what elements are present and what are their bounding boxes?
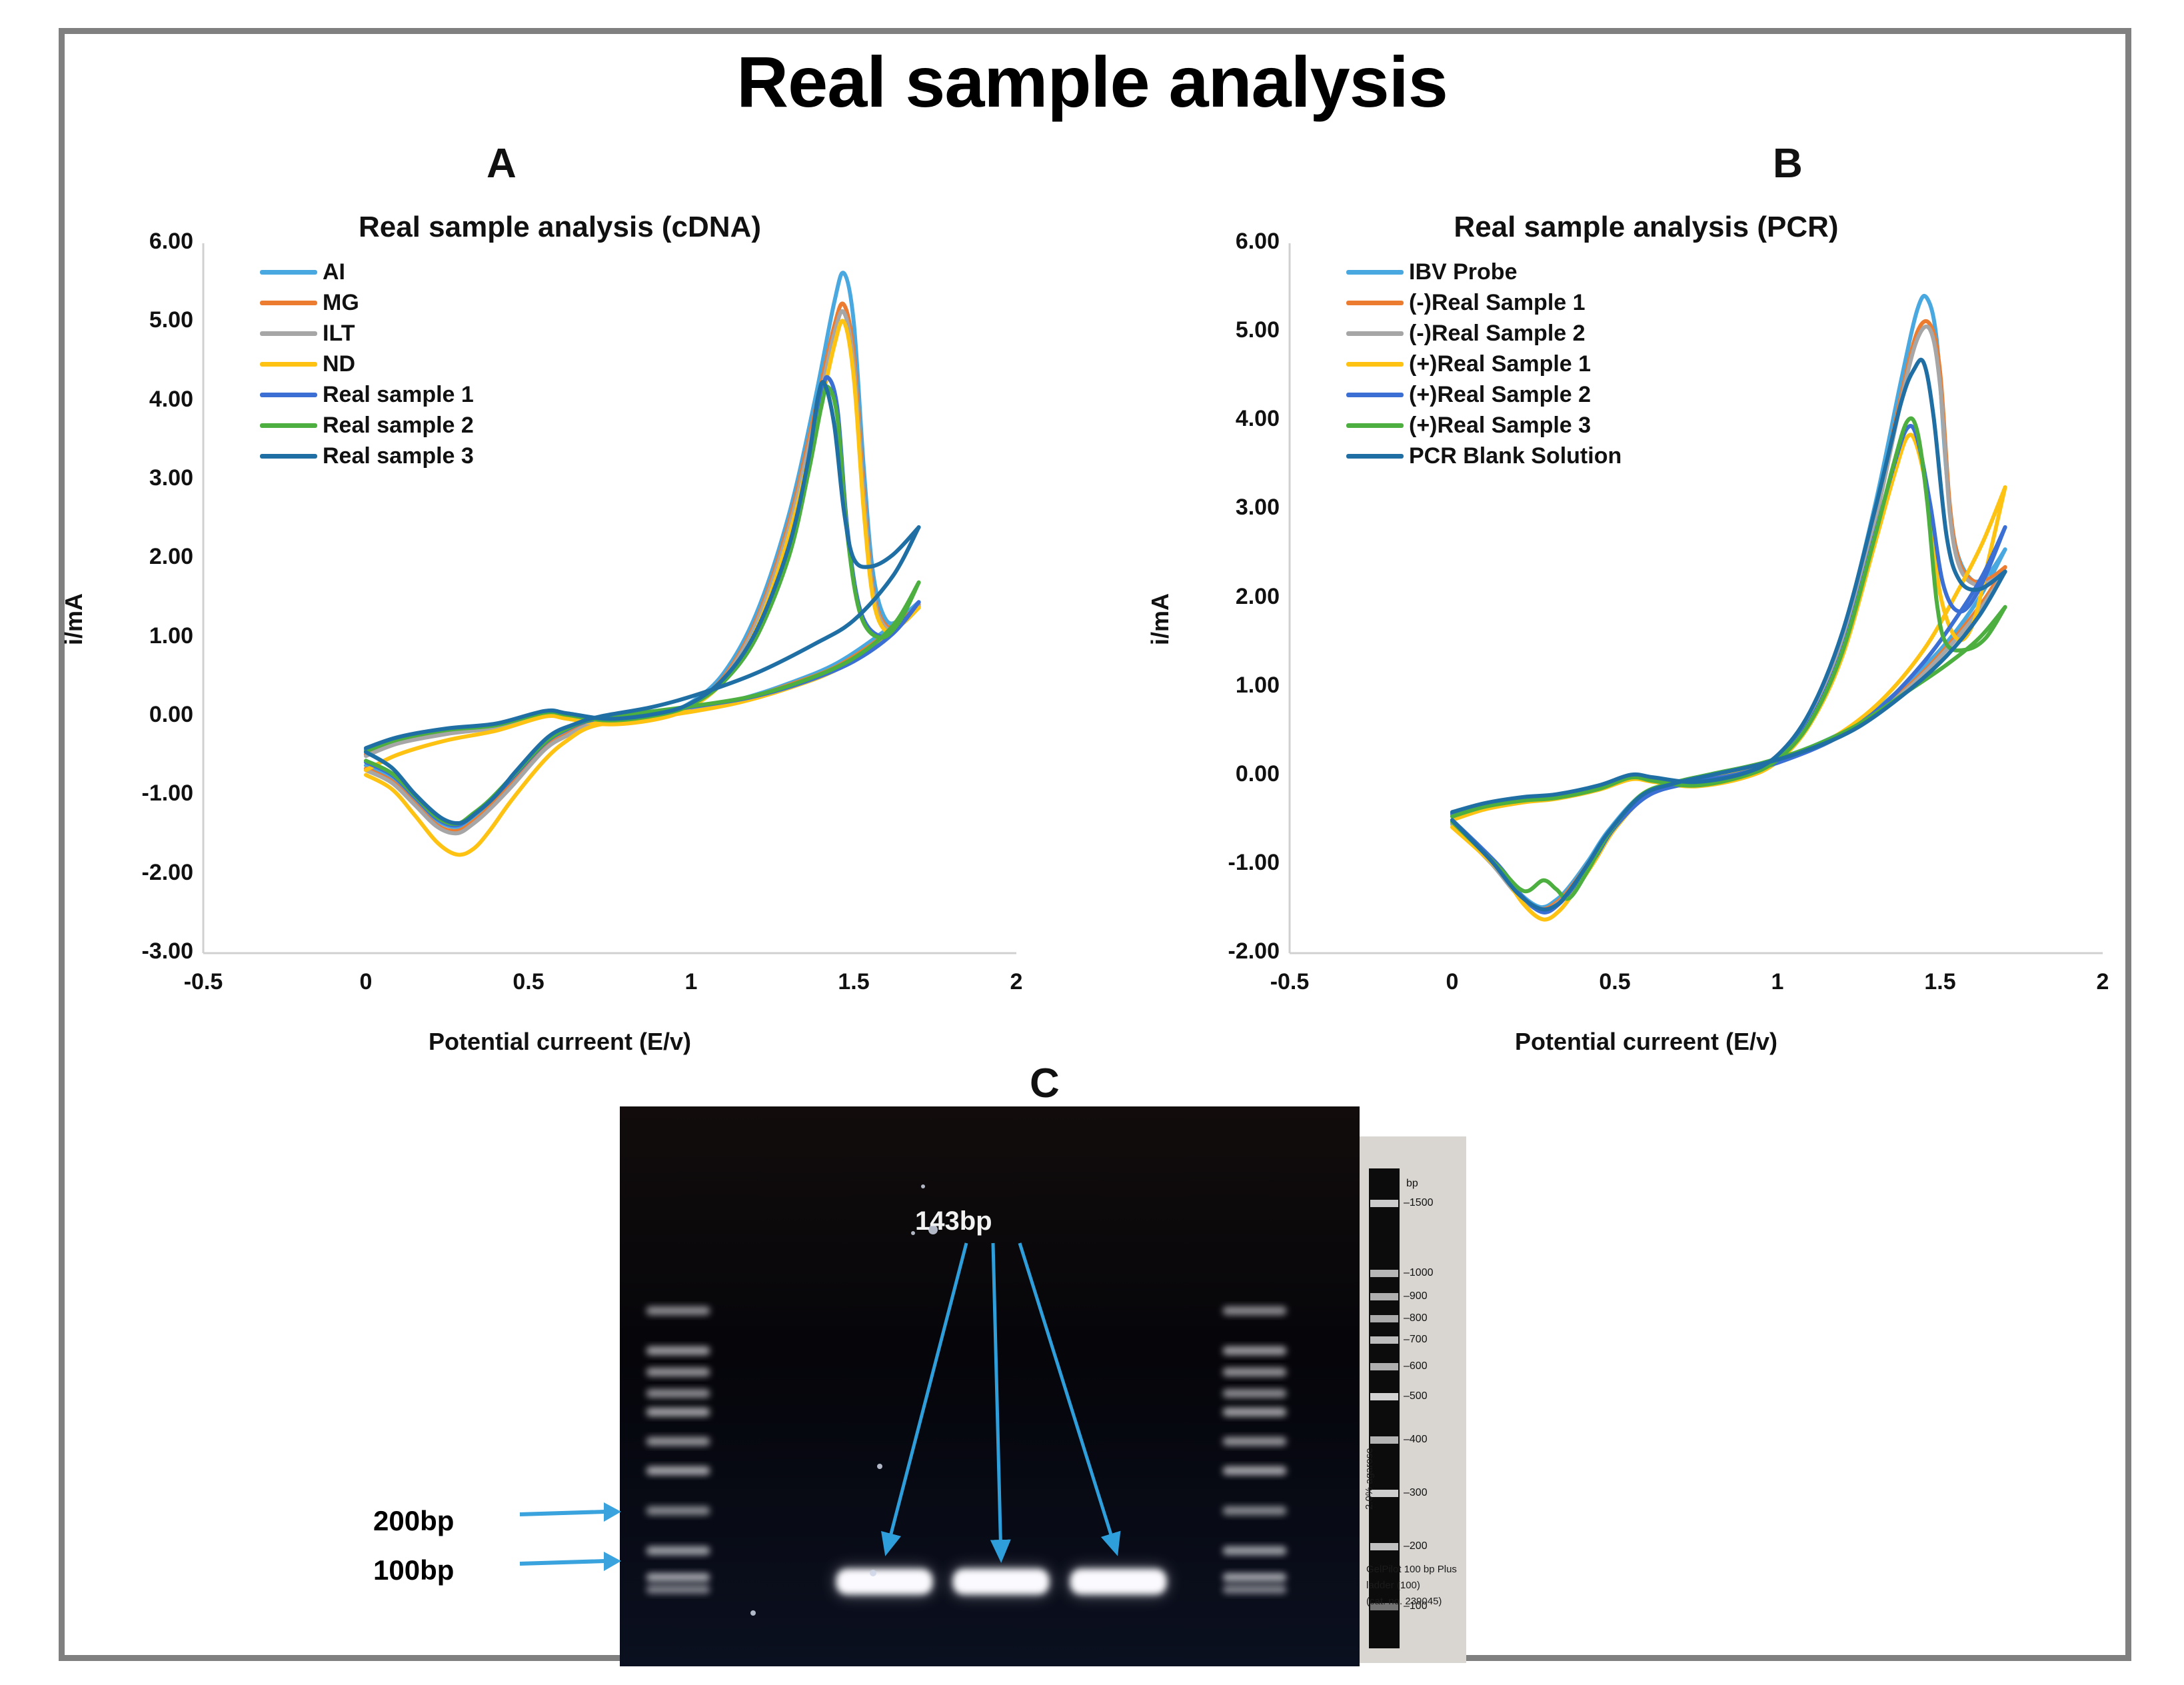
legend-item[interactable]: (-)Real Sample 2 bbox=[1346, 318, 1622, 349]
page-title: Real sample analysis bbox=[0, 40, 2184, 123]
series-line bbox=[1452, 487, 2005, 920]
legend-color-swatch bbox=[1346, 270, 1404, 275]
series-line bbox=[366, 583, 919, 824]
legend-label: (+)Real Sample 3 bbox=[1409, 413, 1591, 439]
gel-143bp-label: 143bp bbox=[915, 1206, 992, 1236]
legend-label: ILT bbox=[323, 321, 355, 347]
legend-item[interactable]: AI bbox=[260, 257, 474, 287]
gel-electrophoresis-panel: bp–1500–1000–900–800–700–600–500–400–300… bbox=[620, 1106, 1466, 1666]
panel-letter-a: A bbox=[487, 140, 517, 187]
series-line bbox=[1452, 572, 2005, 910]
legend-label: AI bbox=[323, 259, 345, 285]
series-line bbox=[1452, 572, 2005, 911]
legend-item[interactable]: Real sample 2 bbox=[260, 410, 474, 441]
bp-label-200: 200bp bbox=[373, 1505, 454, 1537]
legend-label: MG bbox=[323, 290, 359, 316]
legend-color-swatch bbox=[1346, 454, 1404, 459]
legend-label: Real sample 3 bbox=[323, 443, 474, 469]
legend-label: Real sample 1 bbox=[323, 382, 474, 408]
panel-letter-b: B bbox=[1773, 140, 1803, 187]
legend-label: Real sample 2 bbox=[323, 413, 474, 439]
legend-item[interactable]: (-)Real Sample 1 bbox=[1346, 287, 1622, 318]
legend-color-swatch bbox=[260, 301, 317, 305]
chart-a-plot bbox=[40, 193, 1080, 1060]
legend-color-swatch bbox=[260, 270, 317, 275]
legend-color-swatch bbox=[260, 362, 317, 367]
chart-panel-a: Real sample analysis (cDNA) i/mA Potenti… bbox=[40, 193, 1080, 1060]
legend-color-swatch bbox=[260, 393, 317, 397]
gel-annotations bbox=[620, 1106, 1466, 1666]
bp-label-100: 100bp bbox=[373, 1554, 454, 1586]
legend-item[interactable]: (+)Real Sample 1 bbox=[1346, 349, 1622, 379]
gel-annotation-arrow bbox=[886, 1243, 966, 1552]
legend-color-swatch bbox=[1346, 301, 1404, 305]
legend-item[interactable]: (+)Real Sample 3 bbox=[1346, 410, 1622, 441]
legend-color-swatch bbox=[260, 454, 317, 459]
series-line bbox=[1452, 426, 2005, 814]
series-line bbox=[366, 527, 919, 823]
chart-a-legend: AIMGILTNDReal sample 1Real sample 2Real … bbox=[260, 257, 474, 471]
legend-item[interactable]: ND bbox=[260, 349, 474, 379]
chart-b-plot bbox=[1126, 193, 2166, 1060]
legend-label: ND bbox=[323, 351, 355, 377]
series-line bbox=[1452, 435, 2005, 820]
legend-item[interactable]: MG bbox=[260, 287, 474, 318]
legend-item[interactable]: Real sample 3 bbox=[260, 441, 474, 471]
legend-label: PCR Blank Solution bbox=[1409, 443, 1622, 469]
figure-canvas: Real sample analysis A B C Real sample a… bbox=[0, 0, 2184, 1685]
chart-panel-b: Real sample analysis (PCR) i/mA Potentia… bbox=[1126, 193, 2166, 1060]
legend-item[interactable]: ILT bbox=[260, 318, 474, 349]
legend-item[interactable]: IBV Probe bbox=[1346, 257, 1622, 287]
legend-color-swatch bbox=[260, 331, 317, 336]
legend-color-swatch bbox=[1346, 393, 1404, 397]
legend-label: (+)Real Sample 2 bbox=[1409, 382, 1591, 408]
legend-label: (-)Real Sample 1 bbox=[1409, 290, 1586, 316]
legend-label: (-)Real Sample 2 bbox=[1409, 321, 1586, 347]
series-line bbox=[1452, 527, 2005, 912]
panel-letter-c: C bbox=[1030, 1060, 1060, 1107]
gel-annotation-arrow bbox=[993, 1243, 1001, 1558]
legend-item[interactable]: Real sample 1 bbox=[260, 379, 474, 410]
gel-annotation-arrow bbox=[1020, 1243, 1116, 1552]
series-line bbox=[1452, 419, 2005, 817]
series-line bbox=[1452, 567, 2005, 909]
legend-label: IBV Probe bbox=[1409, 259, 1517, 285]
legend-color-swatch bbox=[260, 423, 317, 428]
legend-item[interactable]: (+)Real Sample 2 bbox=[1346, 379, 1622, 410]
chart-b-legend: IBV Probe(-)Real Sample 1(-)Real Sample … bbox=[1346, 257, 1622, 471]
legend-color-swatch bbox=[1346, 362, 1404, 367]
legend-color-swatch bbox=[1346, 423, 1404, 428]
legend-color-swatch bbox=[1346, 331, 1404, 336]
legend-label: (+)Real Sample 1 bbox=[1409, 351, 1591, 377]
series-line bbox=[1452, 549, 2005, 907]
bp-left-arrows bbox=[520, 1500, 626, 1586]
legend-item[interactable]: PCR Blank Solution bbox=[1346, 441, 1622, 471]
